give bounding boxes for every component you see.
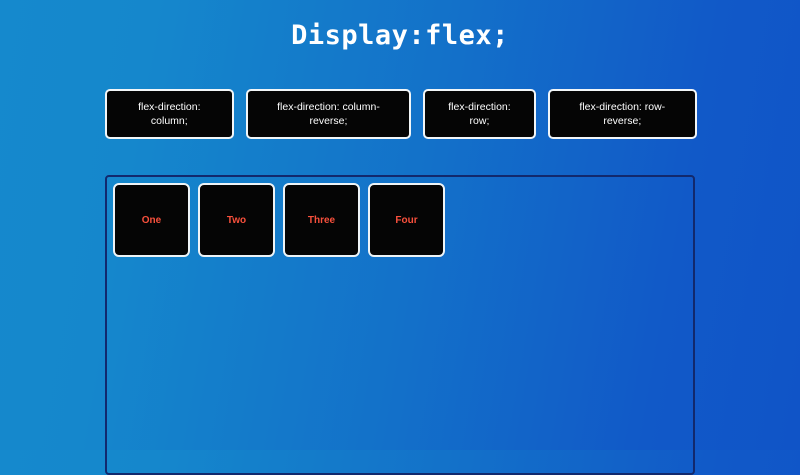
flex-direction-button-row[interactable]: flex-direction: row; bbox=[423, 89, 535, 139]
flex-direction-button-row-reverse[interactable]: flex-direction: row-reverse; bbox=[548, 89, 697, 139]
flex-item: Three bbox=[283, 183, 360, 257]
flex-item: Four bbox=[368, 183, 445, 257]
flex-direction-button-bar: flex-direction: column;flex-direction: c… bbox=[105, 89, 697, 139]
page-title: Display:flex; bbox=[0, 0, 800, 49]
flex-direction-button-column[interactable]: flex-direction: column; bbox=[105, 89, 234, 139]
flex-item: One bbox=[113, 183, 190, 257]
flex-direction-button-column-reverse[interactable]: flex-direction: column-reverse; bbox=[246, 89, 412, 139]
flex-container: OneTwoThreeFour bbox=[105, 175, 695, 475]
flex-item: Two bbox=[198, 183, 275, 257]
